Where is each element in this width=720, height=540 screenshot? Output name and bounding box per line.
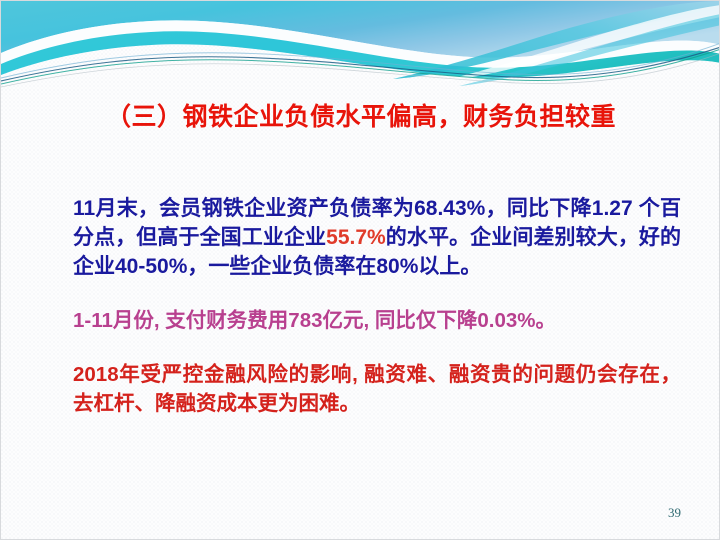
slide-content: （三）钢铁企业负债水平偏高，财务负担较重 11月末，会员钢铁企业资产负债率为68… <box>1 1 719 539</box>
paragraph-2018-outlook: 2018年受严控金融风险的影响, 融资难、融资贵的问题仍会存在，去杠杆、降融资成… <box>73 360 681 418</box>
page-title: （三）钢铁企业负债水平偏高，财务负担较重 <box>1 97 720 133</box>
paragraph-1-highlight-value: 55.7% <box>326 226 386 249</box>
body-text-blocks: 11月末，会员钢铁企业资产负债率为68.43%，同比下降1.27 个百分点，但高… <box>73 173 681 439</box>
paragraph-financial-expense: 1-11月份, 支付财务费用783亿元, 同比仅下降0.03%。 <box>73 306 681 335</box>
paragraph-debt-ratio: 11月末，会员钢铁企业资产负债率为68.43%，同比下降1.27 个百分点，但高… <box>73 194 681 281</box>
page-number: 39 <box>668 505 681 521</box>
slide-canvas: （三）钢铁企业负债水平偏高，财务负担较重 11月末，会员钢铁企业资产负债率为68… <box>0 0 720 540</box>
